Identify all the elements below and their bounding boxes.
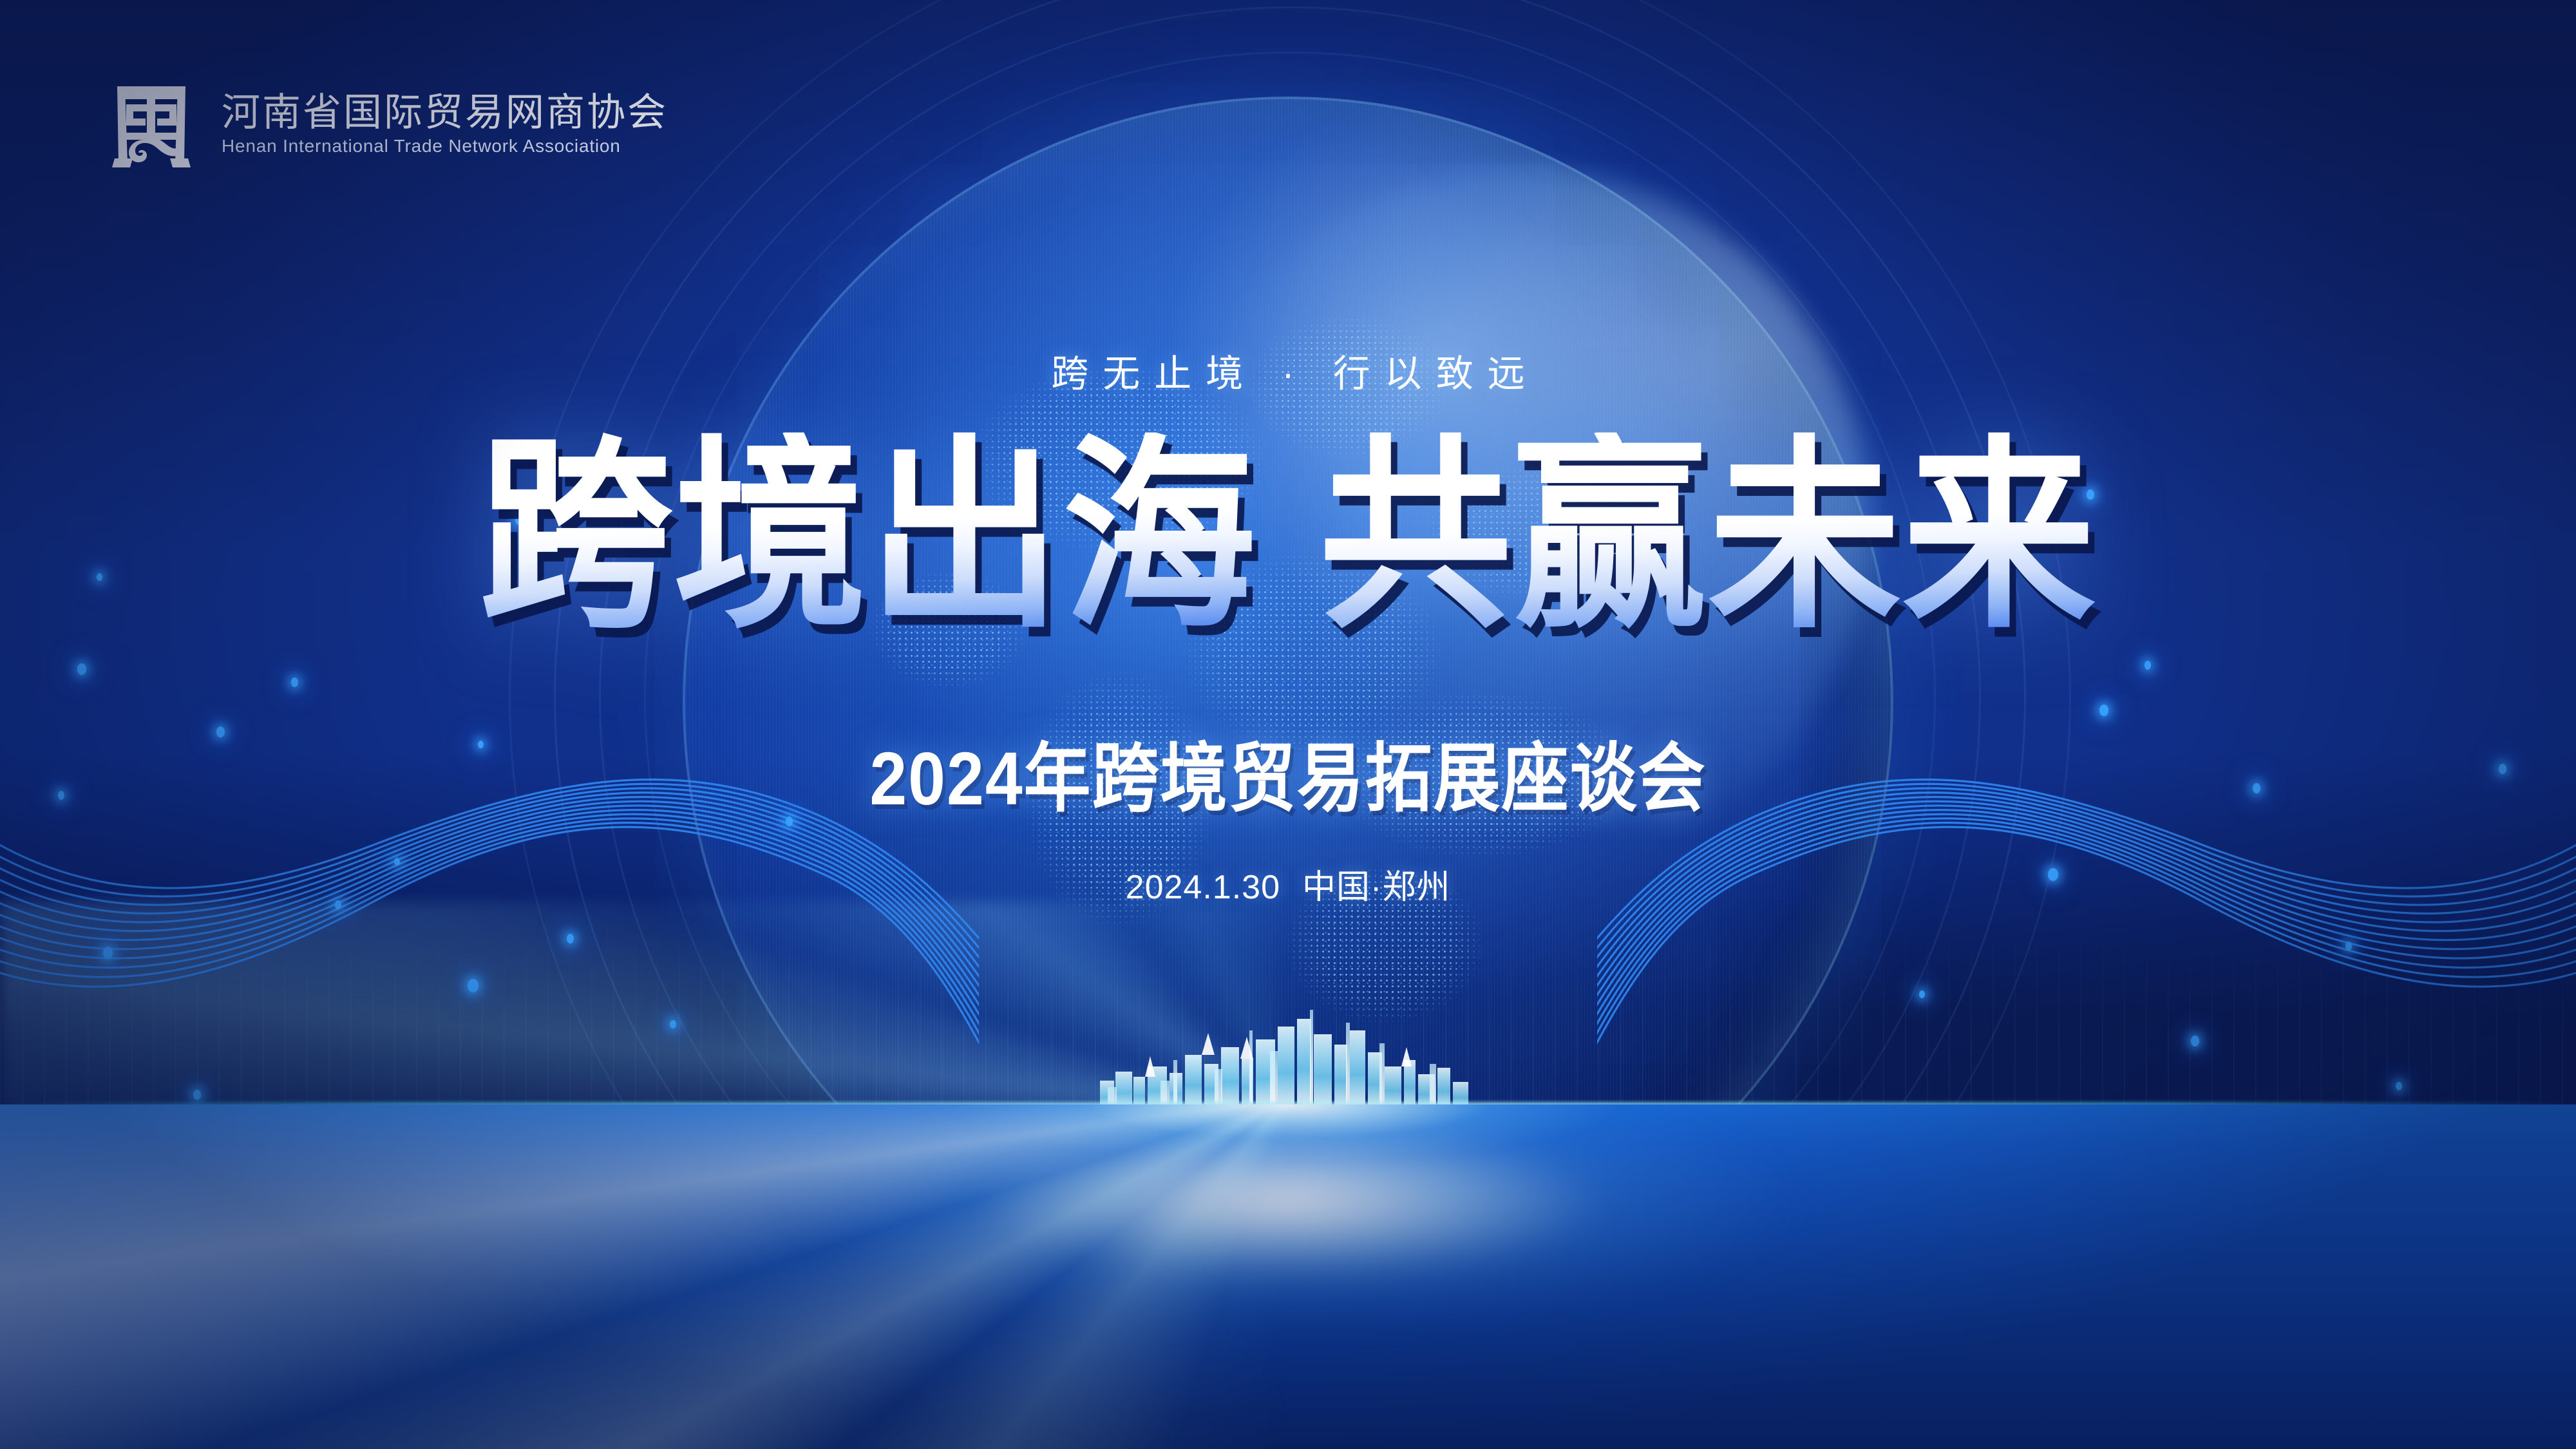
glowing-particle-icon: [786, 817, 793, 826]
glowing-particle-icon: [193, 1090, 201, 1100]
event-location: 中国·郑州: [1302, 869, 1450, 906]
event-subtitle: 2024年跨境贸易拓展座谈会: [0, 742, 2576, 817]
glowing-particle-icon: [103, 947, 113, 959]
glowing-particle-icon: [2345, 942, 2352, 951]
glowing-particle-icon: [77, 663, 86, 675]
city-skyline-icon: [1088, 1005, 1488, 1111]
glowing-particle-icon: [2396, 1082, 2402, 1090]
glowing-particle-icon: [468, 979, 478, 992]
glowing-particle-icon: [1919, 990, 1925, 998]
event-date: 2024.1.30: [1126, 869, 1280, 906]
org-name-cn: 河南省国际贸易网商协会: [222, 93, 668, 132]
glowing-particle-icon: [2191, 1036, 2199, 1046]
event-tagline: 跨无止境 · 行以致远: [0, 355, 2576, 393]
poster-canvas: 河南省国际贸易网商协会 Henan International Trade Ne…: [0, 0, 2576, 1449]
glowing-particle-icon: [394, 858, 400, 866]
glowing-particle-icon: [567, 934, 574, 943]
event-dateline: 2024.1.30中国·郑州: [0, 871, 2576, 904]
headline-part-2: 共赢未来: [1319, 433, 2097, 639]
headline-part-1: 跨境出海: [479, 433, 1257, 639]
glowing-particle-icon: [216, 726, 225, 737]
org-name-en: Henan International Trade Network Associ…: [222, 137, 668, 155]
henan-trade-seal-emblem-icon: [103, 76, 200, 173]
association-logo-block[interactable]: 河南省国际贸易网商协会 Henan International Trade Ne…: [103, 76, 668, 173]
glowing-particle-icon: [670, 1020, 676, 1028]
glowing-particle-icon: [291, 677, 298, 687]
floor-center-glow: [741, 1104, 1835, 1343]
glowing-particle-icon: [2099, 705, 2108, 716]
radial-light-burst-icon: [0, 1104, 2576, 1449]
page-title: 跨境出海共赢未来: [0, 439, 2576, 632]
glowing-particle-icon: [2145, 661, 2151, 670]
